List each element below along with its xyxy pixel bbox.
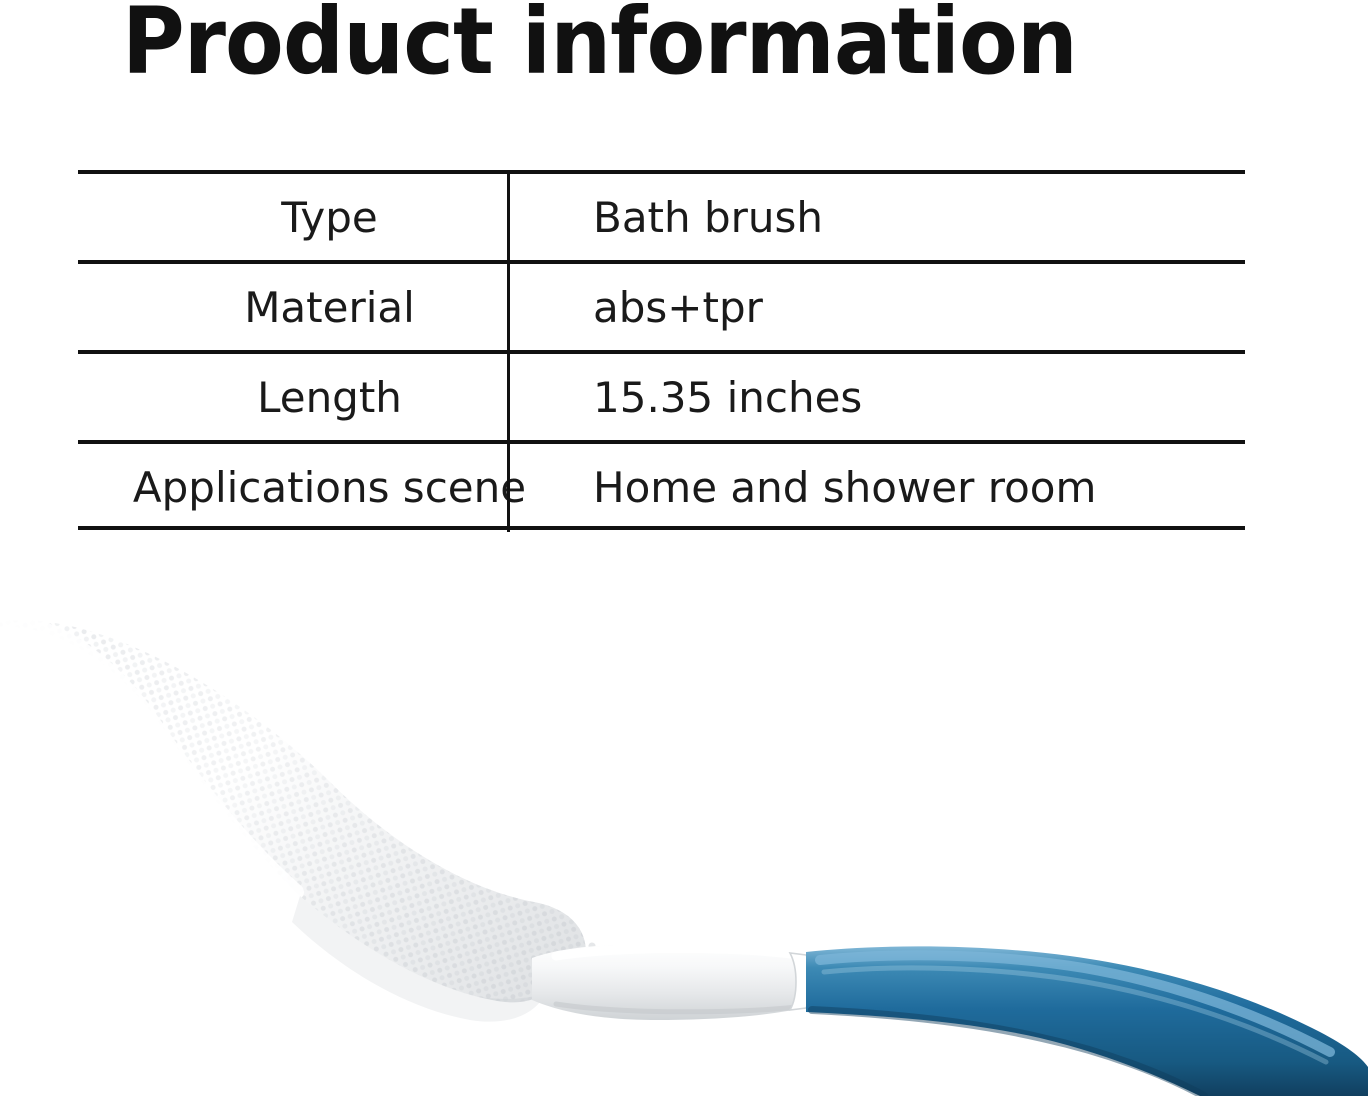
spec-label-type: Type [78, 174, 581, 260]
spec-value-material: abs+tpr [593, 264, 763, 350]
page-title: Product information [122, 0, 1077, 88]
shaft-white-plastic [532, 944, 812, 1020]
spec-value-applications-scene: Home and shower room [593, 444, 1096, 530]
product-image-bath-brush [0, 596, 1368, 1096]
table-row: Material abs+tpr [78, 260, 1245, 350]
spec-label-applications-scene: Applications scene [78, 444, 581, 530]
spec-value-length: 15.35 inches [593, 354, 862, 440]
spec-label-material: Material [78, 264, 581, 350]
table-row: Applications scene Home and shower room [78, 440, 1245, 530]
product-specification-table: Type Bath brush Material abs+tpr Length … [78, 170, 1245, 530]
spec-label-length: Length [78, 354, 581, 440]
table-row: Length 15.35 inches [78, 350, 1245, 440]
spec-table-column-divider [507, 170, 510, 532]
grip-blue-tpr [806, 946, 1368, 1096]
table-row: Type Bath brush [78, 170, 1245, 260]
spec-value-type: Bath brush [593, 174, 823, 260]
